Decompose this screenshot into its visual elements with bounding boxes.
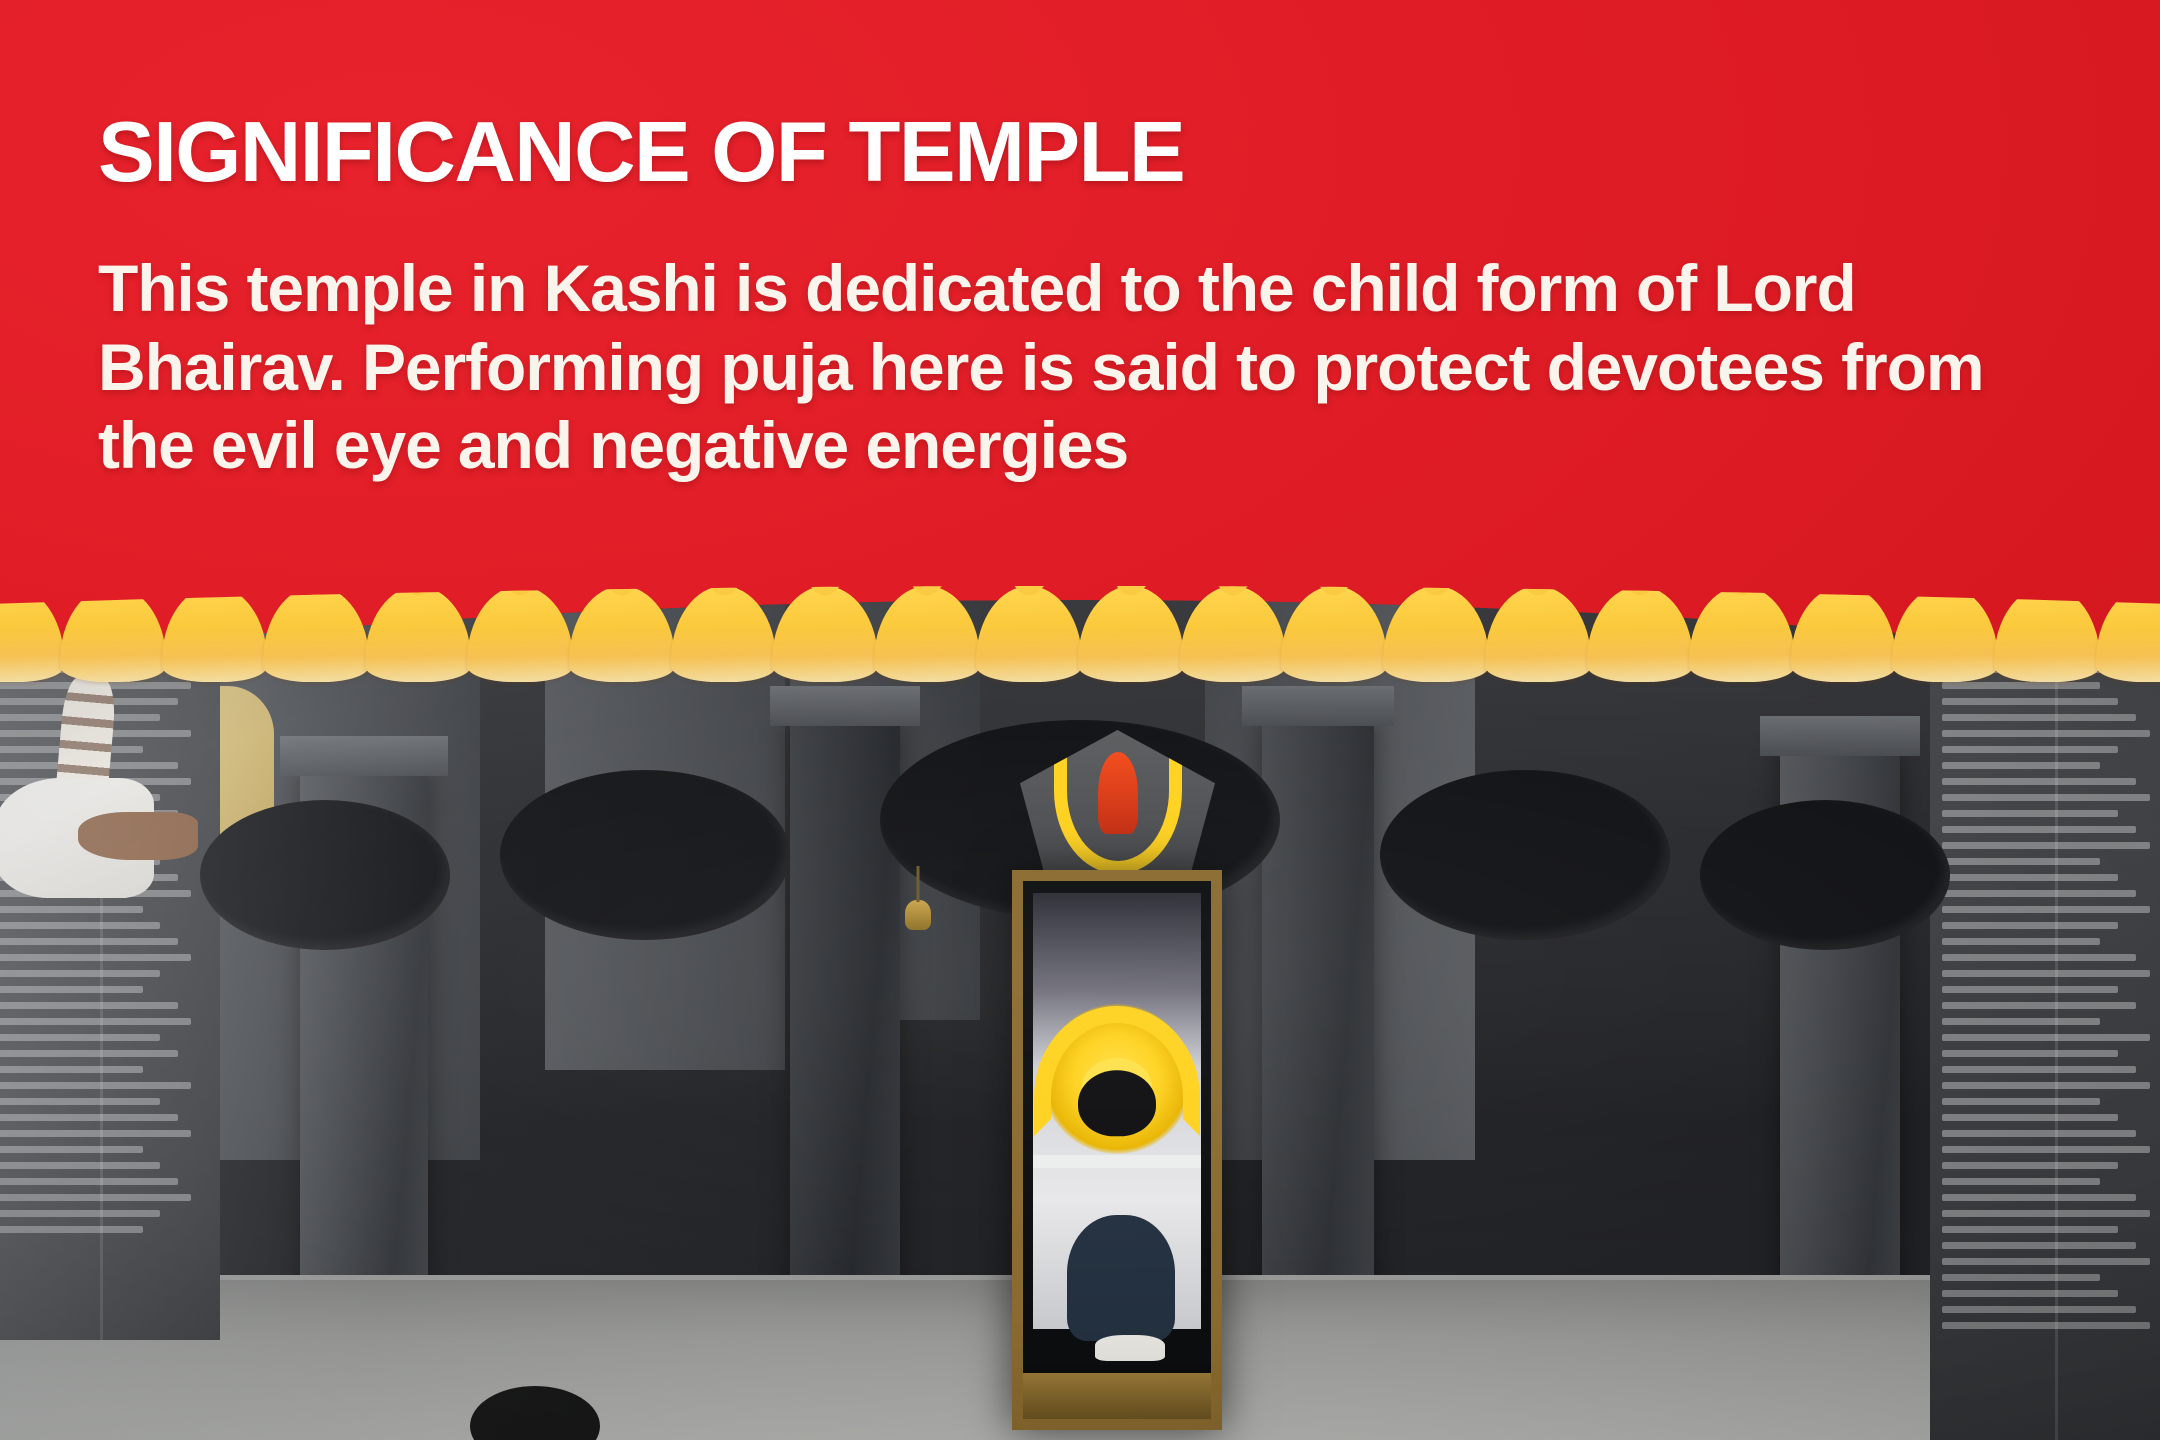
temple-photo-scene — [0, 600, 2160, 1440]
arch-lobe-left — [500, 770, 790, 940]
shrine-threshold — [1023, 1373, 1211, 1419]
deity-face — [1078, 1070, 1156, 1136]
temple-photo — [0, 600, 2160, 1440]
pillar-capital — [1760, 716, 1920, 756]
temple-info-card: SIGNIFICANCE OF TEMPLE This temple in Ka… — [0, 0, 2160, 1440]
arch-lobe-far-right — [1700, 800, 1950, 950]
temple-bell-icon — [905, 900, 931, 930]
arch-lobe-far-left — [200, 800, 450, 950]
pillar-capital — [280, 736, 448, 776]
garland-icon — [1054, 744, 1182, 874]
kneeling-devotee-feet — [1095, 1335, 1165, 1361]
inscription-plaque-right — [1930, 600, 2160, 1440]
text-block: SIGNIFICANCE OF TEMPLE This temple in Ka… — [98, 110, 2058, 485]
description-text: This temple in Kashi is dedicated to the… — [98, 249, 1988, 485]
shrine-sill — [1033, 1155, 1201, 1168]
arch-lobe-right — [1380, 770, 1670, 940]
pillar-capital — [770, 686, 920, 726]
seated-person-arm — [78, 812, 198, 860]
page-title: SIGNIFICANCE OF TEMPLE — [98, 110, 2058, 195]
pillar-capital — [1242, 686, 1394, 726]
kneeling-devotee — [1067, 1215, 1175, 1341]
plaque-text-lines-right — [1942, 618, 2160, 1440]
shrine-doorway — [1012, 870, 1222, 1430]
